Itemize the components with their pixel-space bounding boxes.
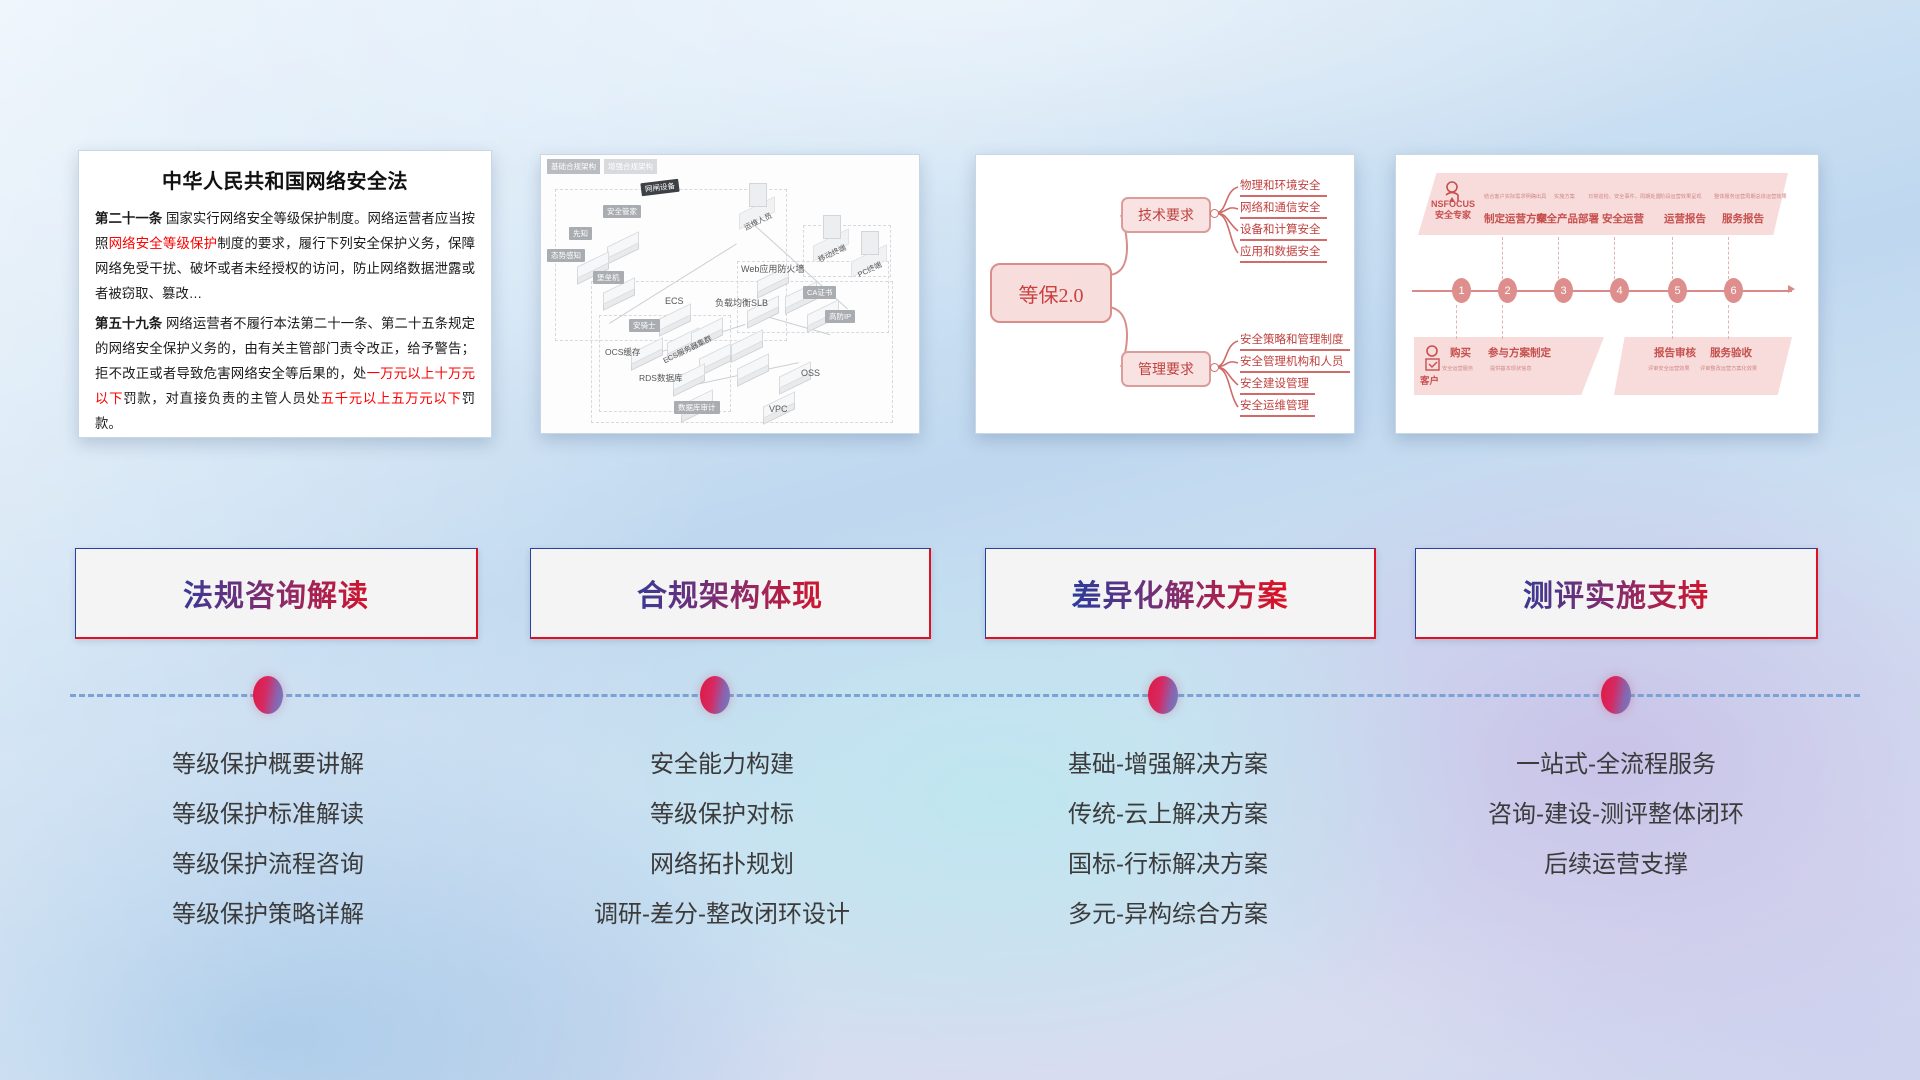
- top-sub-2: 日常巡检、安全事件、周期处置: [1588, 193, 1661, 200]
- arch-label-19: VPC: [765, 403, 792, 415]
- timeline-step-5[interactable]: 5: [1668, 278, 1687, 303]
- detail-column-2: 安全能力构建 等级保护对标 网络拓扑规划 调研-差分-整改闭环设计: [522, 740, 922, 940]
- architecture-tabs[interactable]: 基础合规架构 增强合规架构: [547, 159, 657, 174]
- server-icon-3: [603, 285, 633, 303]
- bottom-title-3: 服务验收: [1710, 345, 1752, 360]
- bottom-title-0: 购买: [1450, 345, 1471, 360]
- headline-box-3[interactable]: 差异化解决方案: [985, 548, 1376, 639]
- headline-label-2: 合规架构体现: [531, 571, 929, 615]
- article-21-highlight: 网络安全等级保护: [109, 236, 218, 251]
- detail-column-4: 一站式-全流程服务 咨询-建设-测评整体闭环 后续运营支撑: [1412, 740, 1820, 890]
- bottom-title-2: 报告审核: [1654, 345, 1696, 360]
- list-item: 传统-云上解决方案: [968, 790, 1368, 840]
- bottom-sub-2: 评审安全运营效果: [1648, 365, 1690, 372]
- detail-column-1: 等级保护概要讲解 等级保护标准解读 等级保护流程咨询 等级保护策略详解: [68, 740, 468, 940]
- law-title: 中华人民共和国网络安全法: [95, 165, 475, 194]
- top-title-2: 安全运营: [1602, 211, 1644, 226]
- connector-bottom-3: [1672, 305, 1674, 339]
- arch-label-4: 堡垒机: [593, 271, 624, 284]
- mindmap-leaf-m-1[interactable]: 安全管理机构和人员: [1240, 353, 1344, 371]
- connector-top-5: [1728, 237, 1730, 279]
- top-sub-1: 实施方案: [1554, 193, 1575, 200]
- mindmap-leaf-m-3[interactable]: 安全运维管理: [1240, 397, 1309, 415]
- top-sub-0: 结合客户实际需求明确出具: [1484, 193, 1546, 200]
- list-item: 等级保护标准解读: [68, 790, 468, 840]
- detail-column-3: 基础-增强解决方案 传统-云上解决方案 国标-行标解决方案 多元-异构综合方案: [968, 740, 1368, 940]
- timeline-step-1[interactable]: 1: [1452, 278, 1471, 303]
- article-59-text-2: 罚款，对直接负责的主管人员处: [123, 391, 320, 406]
- arch-label-3: 态势感知: [547, 249, 585, 262]
- list-item: 等级保护策略详解: [68, 890, 468, 940]
- law-article-21: 第二十一条 国家实行网络安全等级保护制度。网络运营者应当按照网络安全等级保护制度…: [95, 206, 475, 306]
- top-title-1: 安全产品部署: [1536, 211, 1599, 226]
- service-timeline-card[interactable]: NSFOCUS 安全专家 客户 1 2 3 4 5 6 结合客户实: [1395, 154, 1819, 434]
- top-title-3: 运营报告: [1664, 211, 1706, 226]
- list-item: 后续运营支撑: [1412, 840, 1820, 890]
- arch-label-17: 数据库审计: [674, 401, 720, 414]
- headline-label-3: 差异化解决方案: [986, 571, 1374, 615]
- arch-label-12: 负载均衡SLB: [711, 295, 772, 310]
- headline-label-1: 法规咨询解读: [76, 571, 476, 615]
- list-item: 网络拓扑规划: [522, 840, 922, 890]
- list-item: 国标-行标解决方案: [968, 840, 1368, 890]
- timeline-step-4[interactable]: 4: [1610, 278, 1629, 303]
- headline-box-1[interactable]: 法规咨询解读: [75, 548, 478, 639]
- headline-box-2[interactable]: 合规架构体现: [530, 548, 931, 639]
- role-label-customer: 客户: [1420, 373, 1439, 387]
- timeline-step-3[interactable]: 3: [1554, 278, 1573, 303]
- bottom-sub-3: 评审整改运营方案化效果: [1700, 365, 1757, 372]
- list-item: 等级保护流程咨询: [68, 840, 468, 890]
- bottom-title-1: 参与方案制定: [1488, 345, 1551, 360]
- mindmap-leaf-t-2[interactable]: 设备和计算安全: [1240, 221, 1321, 239]
- architecture-diagram: 基础合规架构 增强合规架构: [541, 155, 919, 433]
- law-text-card[interactable]: 中华人民共和国网络安全法 第二十一条 国家实行网络安全等级保护制度。网络运营者应…: [78, 150, 492, 438]
- mindmap-leaf-m-2[interactable]: 安全建设管理: [1240, 375, 1309, 393]
- article-59-label: 第五十九条: [95, 316, 162, 331]
- law-body: 中华人民共和国网络安全法 第二十一条 国家实行网络安全等级保护制度。网络运营者应…: [79, 151, 491, 437]
- person-terminal-icon: [749, 183, 767, 207]
- thumbnail-card-row: 中华人民共和国网络安全法 第二十一条 国家实行网络安全等级保护制度。网络运营者应…: [0, 150, 1920, 440]
- law-article-59: 第五十九条 网络运营者不履行本法第二十一条、第二十五条规定的网络安全保护义务的，…: [95, 311, 475, 436]
- list-item: 基础-增强解决方案: [968, 740, 1368, 790]
- tab-enhanced-architecture[interactable]: 增强合规架构: [604, 159, 657, 174]
- timeline-step-6[interactable]: 6: [1724, 278, 1743, 303]
- mindmap-card[interactable]: 等保2.0 技术要求 管理要求 物理和环境安全 网络和通信安全 设备和计算安全 …: [975, 154, 1355, 434]
- list-item: 安全能力构建: [522, 740, 922, 790]
- cloud-architecture-card[interactable]: 基础合规架构 增强合规架构: [540, 154, 920, 434]
- timeline-dot-2[interactable]: [700, 676, 730, 714]
- mindmap-leaf-m-0[interactable]: 安全策略和管理制度: [1240, 331, 1344, 349]
- list-item: 咨询-建设-测评整体闭环: [1412, 790, 1820, 840]
- connector-top-3: [1614, 237, 1616, 279]
- mindmap-root-node[interactable]: 等保2.0: [990, 263, 1112, 323]
- connector-top-1: [1502, 237, 1504, 279]
- arch-label-10: 高防IP: [825, 310, 855, 323]
- timeline-dot-3[interactable]: [1148, 676, 1178, 714]
- list-item: 多元-异构综合方案: [968, 890, 1368, 940]
- connector-bottom-1: [1456, 305, 1458, 339]
- arch-label-9: CA证书: [803, 286, 836, 299]
- headline-box-4[interactable]: 测评实施支持: [1415, 548, 1818, 639]
- mobile-device-icon: [823, 215, 841, 239]
- arch-label-15: OCS缓存: [601, 345, 644, 359]
- bottom-sub-1: 提供基本现状信息: [1490, 365, 1532, 372]
- connector-bottom-2: [1502, 305, 1504, 339]
- arch-label-2: 先知: [569, 227, 592, 240]
- mindmap-leaf-t-3[interactable]: 应用和数据安全: [1240, 243, 1321, 261]
- server-icon-4: [659, 311, 689, 329]
- arch-label-11: ECS: [661, 295, 688, 307]
- top-title-4: 服务报告: [1722, 211, 1764, 226]
- timeline-step-2[interactable]: 2: [1498, 278, 1517, 303]
- server-icon-1: [607, 239, 637, 257]
- mindmap-leaf-t-1[interactable]: 网络和通信安全: [1240, 199, 1321, 217]
- collapse-icon-technical[interactable]: [1210, 209, 1219, 218]
- list-item: 等级保护对标: [522, 790, 922, 840]
- dashed-timeline-axis: [70, 694, 1860, 699]
- top-sub-4: 整体服务运营周期总体运营效果: [1714, 193, 1787, 200]
- arch-label-1: 安全管家: [603, 205, 641, 218]
- list-item: 调研-差分-整改闭环设计: [522, 890, 922, 940]
- arch-label-13: 安骑士: [629, 319, 660, 332]
- mindmap-leaf-t-0[interactable]: 物理和环境安全: [1240, 177, 1321, 195]
- headline-row: 法规咨询解读 合规架构体现 差异化解决方案 测评实施支持: [0, 548, 1920, 640]
- mindmap-branch-technical[interactable]: 技术要求: [1121, 197, 1211, 233]
- list-item: 一站式-全流程服务: [1412, 740, 1820, 790]
- list-item: 等级保护概要讲解: [68, 740, 468, 790]
- role-label-expert: NSFOCUS 安全专家: [1426, 199, 1480, 221]
- collapse-icon-management[interactable]: [1210, 363, 1219, 372]
- timeline-dot-1[interactable]: [253, 676, 283, 714]
- bottom-sub-0: 安全运营服务: [1442, 365, 1473, 372]
- nsfocus-timeline: NSFOCUS 安全专家 客户 1 2 3 4 5 6 结合客户实: [1396, 155, 1818, 433]
- mindmap-branch-management[interactable]: 管理要求: [1121, 351, 1211, 387]
- pc-device-icon: [861, 231, 879, 255]
- arch-label-8: Web应用防火墙: [737, 261, 808, 276]
- arch-label-18: OSS: [797, 367, 824, 379]
- timeline-arrow-icon: [1788, 285, 1795, 293]
- top-sub-3: 阶段运营效果呈现: [1660, 193, 1702, 200]
- arch-label-16: RDS数据库: [635, 371, 686, 385]
- connector-top-4: [1672, 237, 1674, 279]
- connector-top-2: [1558, 237, 1560, 279]
- dengbao-mindmap: 等保2.0 技术要求 管理要求 物理和环境安全 网络和通信安全 设备和计算安全 …: [976, 155, 1354, 433]
- tab-basic-architecture[interactable]: 基础合规架构: [547, 159, 600, 174]
- server-icon-9: [737, 361, 767, 379]
- headline-label-4: 测评实施支持: [1416, 571, 1816, 615]
- timeline-dot-4[interactable]: [1601, 676, 1631, 714]
- article-21-label: 第二十一条: [95, 211, 162, 226]
- article-59-highlight-2: 五千元以上五万元以下: [321, 391, 462, 406]
- connector-bottom-4: [1728, 305, 1730, 339]
- server-icon-8: [731, 337, 761, 355]
